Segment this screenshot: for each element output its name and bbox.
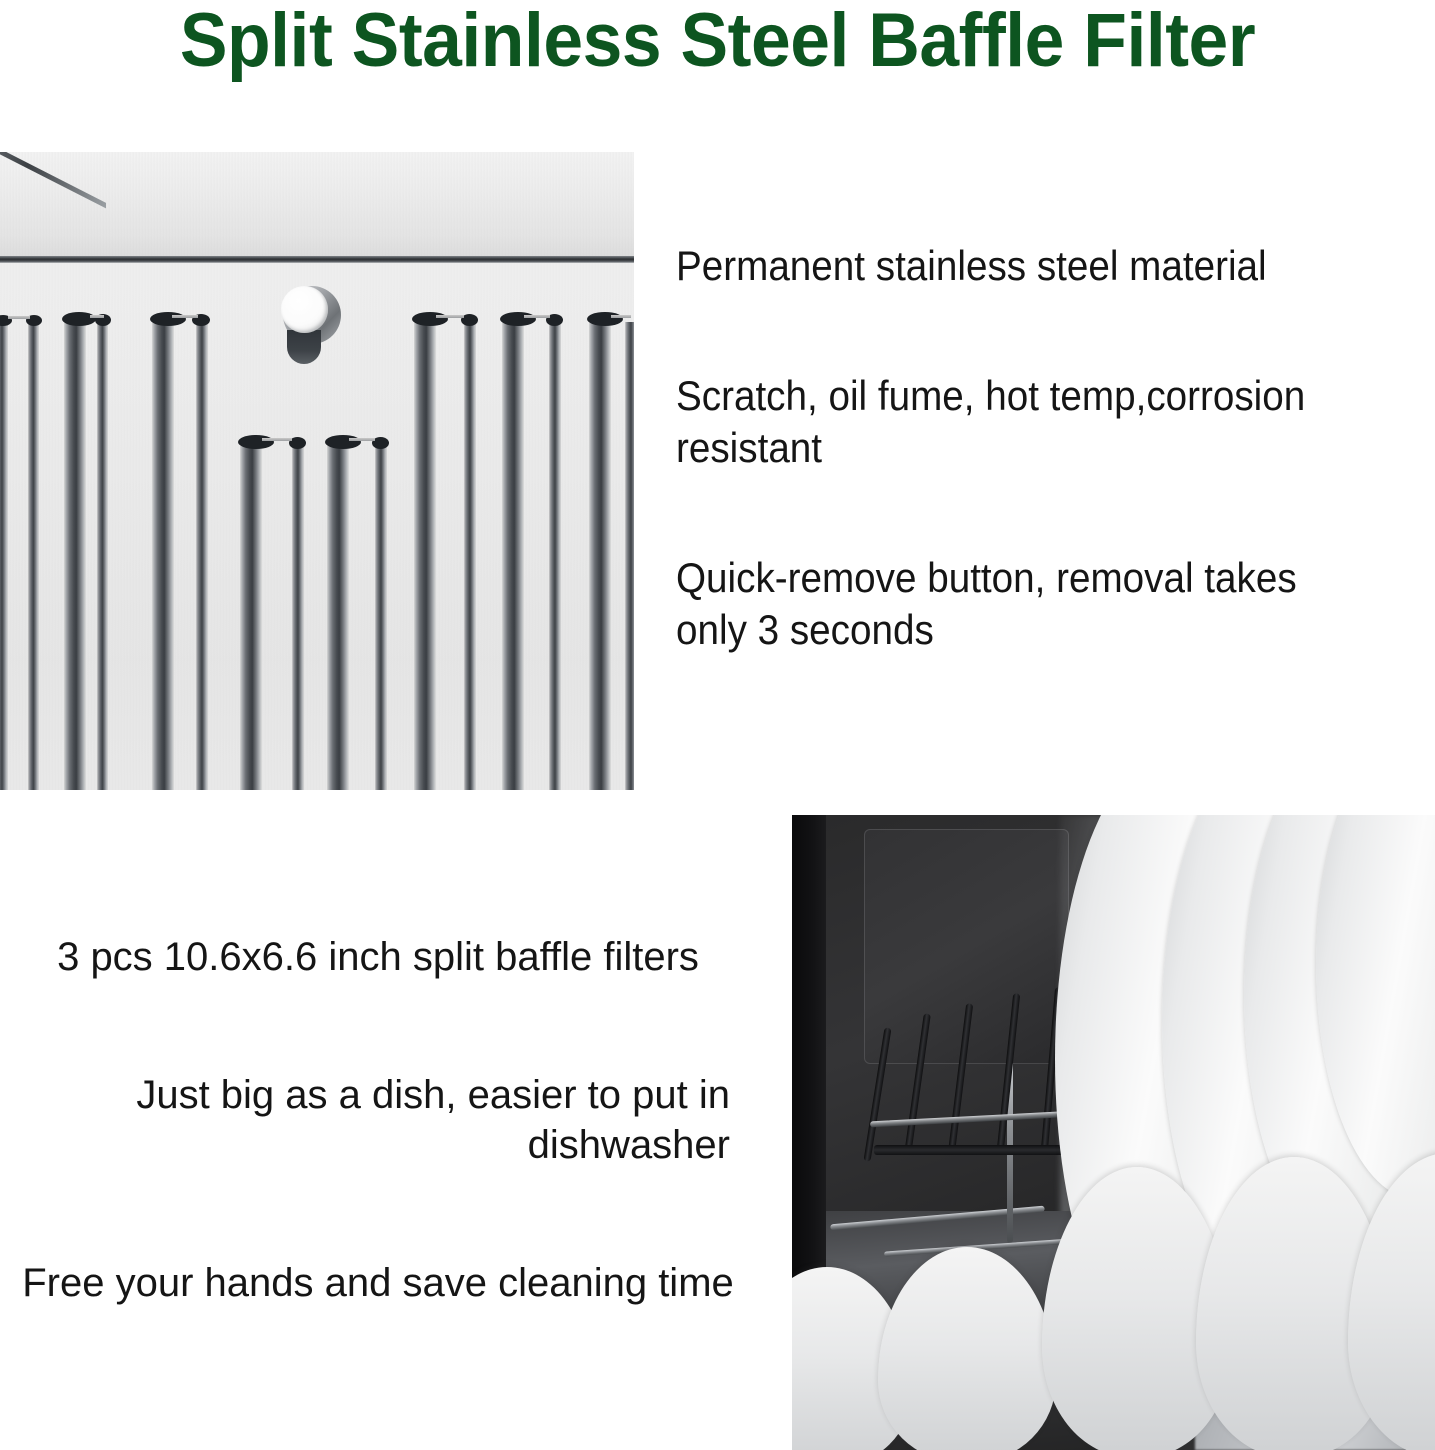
features-list: Permanent stainless steel material Scrat… (676, 240, 1435, 656)
baffle-slot-bridge (436, 315, 464, 318)
infographic-page: Split Stainless Steel Baffle Filter (0, 0, 1435, 1450)
filter-seam-line (0, 256, 634, 263)
baffle-slot-bridge (172, 315, 198, 318)
baffle-slot (375, 445, 387, 790)
baffle-slot (64, 322, 86, 790)
baffle-slot (589, 322, 611, 790)
baffle-slot (625, 322, 634, 790)
benefit-item-cleaning-time: Free your hands and save cleaning time (8, 1258, 748, 1308)
baffle-slot (327, 445, 349, 790)
dishwasher-photo (792, 815, 1435, 1450)
baffle-slot (28, 322, 39, 790)
baffle-slot (0, 322, 8, 790)
page-title: Split Stainless Steel Baffle Filter (43, 0, 1392, 84)
feature-item-quick-remove: Quick-remove button, removal takes only … (676, 552, 1377, 656)
baffle-filter-photo (0, 152, 634, 790)
baffle-slot-bridge (349, 438, 375, 441)
baffle-slot (196, 322, 208, 790)
filter-corner-bevel-icon (0, 152, 106, 214)
quick-remove-button[interactable] (281, 286, 328, 333)
baffle-slot (464, 322, 476, 790)
benefit-item-size: 3 pcs 10.6x6.6 inch split baffle filters (8, 932, 748, 982)
baffle-slot (152, 322, 174, 790)
baffle-slot (549, 322, 561, 790)
baffle-slot (502, 322, 524, 790)
quick-remove-button-notch (287, 330, 321, 364)
baffle-slot (97, 322, 108, 790)
baffle-slot (240, 445, 262, 790)
baffle-slot-bridge (262, 438, 292, 441)
feature-item-resistance: Scratch, oil fume, hot temp,corrosion re… (676, 370, 1377, 474)
baffle-slot-bridge (611, 315, 631, 318)
feature-item-material: Permanent stainless steel material (676, 240, 1377, 292)
baffle-slot (292, 445, 304, 790)
baffle-slot-bridge (524, 315, 550, 318)
benefit-item-dishwasher: Just big as a dish, easier to put in dis… (8, 1070, 748, 1170)
baffle-slot-bridge (90, 315, 104, 318)
benefits-list: 3 pcs 10.6x6.6 inch split baffle filters… (8, 932, 748, 1308)
baffle-slot (414, 322, 436, 790)
baffle-slot-bridge (8, 316, 30, 319)
